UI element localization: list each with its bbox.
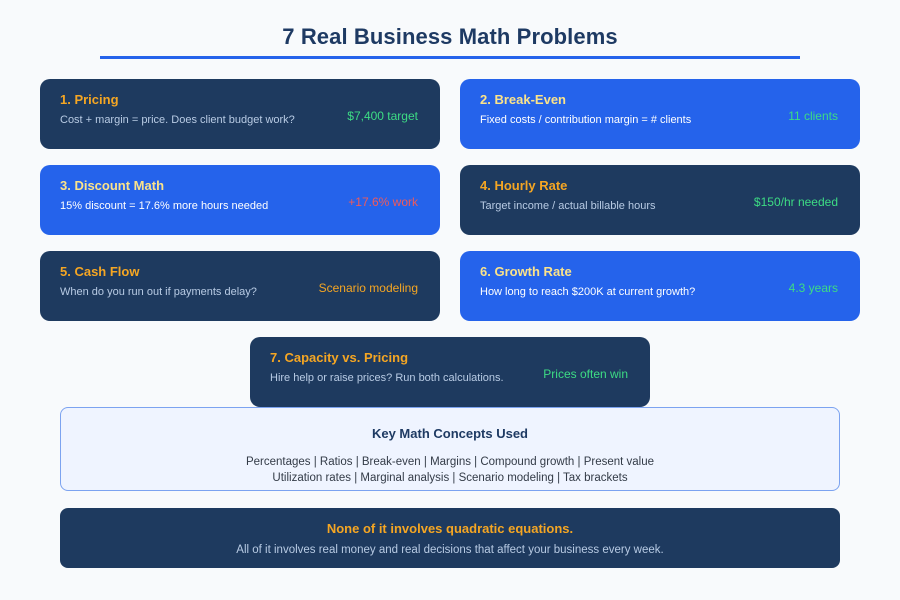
key-concepts-title: Key Math Concepts Used [61, 426, 839, 441]
footer-subtext: All of it involves real money and real d… [60, 544, 840, 556]
problem-card-title: 5. Cash Flow [60, 265, 420, 279]
problem-card-3[interactable]: 3. Discount Math 15% discount = 17.6% mo… [40, 165, 440, 235]
problem-card-title: 6. Growth Rate [480, 265, 840, 279]
problem-card-1[interactable]: 1. Pricing Cost + margin = price. Does c… [40, 79, 440, 149]
problem-card-title: 7. Capacity vs. Pricing [270, 351, 630, 365]
problem-card-title: 3. Discount Math [60, 179, 420, 193]
key-concepts-line-2: Utilization rates | Marginal analysis | … [61, 471, 839, 487]
problem-card-description: Fixed costs / contribution margin = # cl… [480, 114, 840, 127]
problem-card-metric: Scenario modeling [319, 281, 418, 295]
problem-card-title: 1. Pricing [60, 93, 420, 107]
problem-card-metric: 4.3 years [789, 281, 838, 295]
problem-card-metric: $150/hr needed [754, 195, 838, 209]
problem-card-4[interactable]: 4. Hourly Rate Target income / actual bi… [460, 165, 860, 235]
problem-card-6[interactable]: 6. Growth Rate How long to reach $200K a… [460, 251, 860, 321]
page-header: 7 Real Business Math Problems [0, 0, 900, 50]
problem-card-title: 4. Hourly Rate [480, 179, 840, 193]
problem-card-7[interactable]: 7. Capacity vs. Pricing Hire help or rai… [250, 337, 650, 407]
card-row-4: 7. Capacity vs. Pricing Hire help or rai… [40, 337, 860, 407]
problem-card-metric: Prices often win [543, 367, 628, 381]
problem-card-metric: $7,400 target [347, 109, 418, 123]
problem-card-metric: 11 clients [788, 109, 838, 123]
card-row-1: 1. Pricing Cost + margin = price. Does c… [40, 79, 860, 149]
problem-card-2[interactable]: 2. Break-Even Fixed costs / contribution… [460, 79, 860, 149]
card-row-2: 3. Discount Math 15% discount = 17.6% mo… [40, 165, 860, 235]
title-divider [100, 56, 800, 59]
problem-card-description: How long to reach $200K at current growt… [480, 286, 840, 299]
problem-card-metric: +17.6% work [348, 195, 418, 209]
card-row-3: 5. Cash Flow When do you run out if paym… [40, 251, 860, 321]
key-concepts-panel: Key Math Concepts Used Percentages | Rat… [60, 407, 840, 491]
page-title: 7 Real Business Math Problems [0, 0, 900, 50]
key-concepts-line-1: Percentages | Ratios | Break-even | Marg… [61, 455, 839, 471]
problem-card-grid: 1. Pricing Cost + margin = price. Does c… [40, 79, 860, 423]
problem-card-title: 2. Break-Even [480, 93, 840, 107]
problem-card-5[interactable]: 5. Cash Flow When do you run out if paym… [40, 251, 440, 321]
footer-banner: None of it involves quadratic equations.… [60, 508, 840, 568]
footer-headline: None of it involves quadratic equations. [60, 521, 840, 536]
